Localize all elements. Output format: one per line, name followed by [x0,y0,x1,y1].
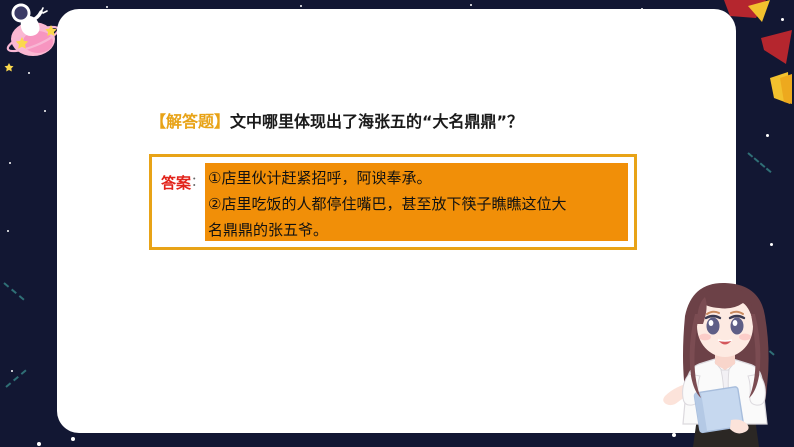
star-icon [766,134,769,137]
star-icon [300,5,302,7]
star-icon [9,162,11,164]
question-text: 文中哪里体现出了海张五的“大名鼎鼎”？ [230,112,523,131]
answer-line: ②店里吃饭的人都停住嘴巴，甚至放下筷子瞧瞧这位大 [208,191,624,217]
answer-text: ①店里伙计赶紧招呼，阿谀奉承。 ②店里吃饭的人都停住嘴巴，甚至放下筷子瞧瞧这位大… [205,163,628,241]
star-icon [770,243,773,246]
comet-streak-icon [5,370,26,388]
answer-line: ①店里伙计赶紧招呼，阿谀奉承。 [208,165,624,191]
answer-box: 答案 ： ①店里伙计赶紧招呼，阿谀奉承。 ②店里吃饭的人都停住嘴巴，甚至放下筷子… [149,154,637,250]
teacher-character [663,258,788,447]
star-icon [11,370,13,372]
star-icon [106,6,108,8]
answer-colon: ： [191,163,204,196]
star-icon [470,4,472,6]
star-icon [44,110,46,112]
question-heading: 【解答题】文中哪里体现出了海张五的“大名鼎鼎”？ [150,111,523,133]
answer-label: 答案 [161,163,191,196]
star-icon [71,437,75,441]
comet-streak-icon [747,152,771,173]
star-icon [7,230,9,232]
star-icon [28,72,30,74]
answer-line: 名鼎鼎的张五爷。 [208,217,624,243]
star-icon [37,442,41,446]
slide-canvas: 【解答题】文中哪里体现出了海张五的“大名鼎鼎”？ 答案 ： ①店里伙计赶紧招呼，… [0,0,794,447]
question-type-tag: 【解答题】 [150,112,230,131]
comet-streak-icon [3,282,24,300]
